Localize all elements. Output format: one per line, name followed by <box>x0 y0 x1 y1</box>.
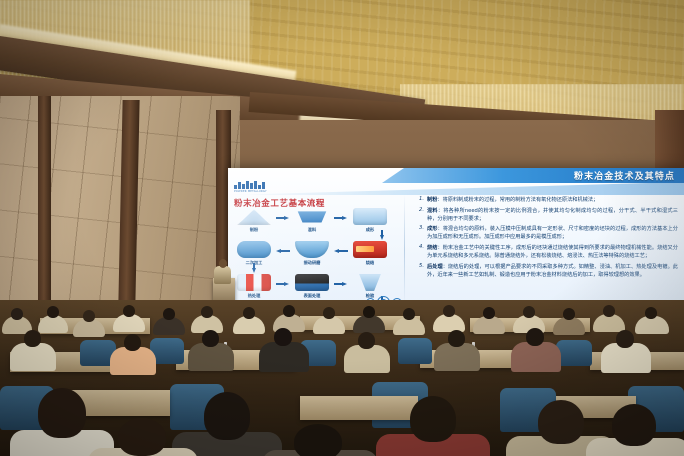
flow-label: 烧结 <box>366 260 374 266</box>
flow-label: 振动研磨 <box>304 260 321 266</box>
audience-chair <box>398 338 432 364</box>
flow-node-surface-treatment: 表面处理 <box>290 274 334 299</box>
surface-machine-icon <box>295 274 329 291</box>
table-near-2 <box>300 396 418 420</box>
list-item-number: 1. <box>414 196 427 204</box>
flow-node-vibratory-grinding: 振动研磨 <box>290 241 334 266</box>
list-item-body: 烧结：粉末冶金工艺中的关键性工序，成形后的坯块通过烧结使其得到所要求的最终物理机… <box>427 244 678 260</box>
tank-icon <box>237 241 271 258</box>
flow-node-mixing: 混料 <box>290 208 334 233</box>
list-item-term: 后处理 <box>427 264 443 270</box>
list-item-text: ：将原料制成粉末的过程，常用的制粉方法有氧化物还原法和机械法； <box>437 197 598 203</box>
furnace-icon <box>353 241 387 258</box>
list-item-body: 成形：将混合均匀的原料，装入压模中压制成具有一定形状、尺寸和密度的坯块的过程，成… <box>427 225 678 241</box>
audience-chair <box>556 340 592 366</box>
flow-node-powder: 制粉 <box>232 208 276 233</box>
flow-row-1: 制粉 混料 成形 <box>232 208 404 238</box>
flow-arrow-left <box>276 249 290 253</box>
list-item-text: ：粉末冶金工艺中的关键性工序，成形后的坯块通过烧结使其得到所要求的最终物理机械性… <box>427 245 678 259</box>
slide-bullet-list: 1. 制粉：将原料制成粉末的过程，常用的制粉方法有氧化物还原法和机械法； 2. … <box>414 196 678 282</box>
flow-arrow-left <box>334 249 348 253</box>
list-item-body: 混料：将各种所need的粉末按一定的比例混合，并使其均匀化制成均匀的过程，分干式… <box>427 207 678 223</box>
conference-hall-screenshot: 粉末冶金技术及其特点 POWDER METALLURGY 粉末冶金工艺基本流程 … <box>0 0 684 456</box>
logo-subtext: POWDER METALLURGY <box>234 190 278 193</box>
mixer-icon <box>295 208 329 225</box>
list-item-text: ：将混合均匀的原料，装入压模中压制成具有一定形状、尺寸和密度的坯块的过程，成形的… <box>427 226 678 240</box>
flow-arrow-right <box>276 282 290 286</box>
logo-bars-icon <box>234 181 278 189</box>
flow-label: 成形 <box>366 227 374 233</box>
caliper-icon <box>353 274 387 291</box>
flow-node-sintering: 烧结 <box>348 241 392 266</box>
powder-pile-icon <box>237 208 271 225</box>
flow-label: 热处理 <box>248 293 261 299</box>
flow-node-heat-treatment: 热处理 <box>232 274 276 299</box>
bowl-icon <box>295 241 329 258</box>
process-flowchart: 制粉 混料 成形 二次加工 <box>232 208 404 306</box>
flow-node-secondary-processing: 二次加工 <box>232 241 276 266</box>
flow-arrow-right <box>276 216 290 220</box>
list-item-term: 制粉 <box>427 197 437 203</box>
list-item-body: 制粉：将原料制成粉末的过程，常用的制粉方法有氧化物还原法和机械法； <box>427 196 598 204</box>
flow-row-2: 二次加工 振动研磨 烧结 <box>232 241 404 271</box>
presenter-logo: POWDER METALLURGY <box>234 181 278 194</box>
list-item: 1. 制粉：将原料制成粉末的过程，常用的制粉方法有氧化物还原法和机械法； <box>414 196 678 204</box>
list-item-text: ：烧结后的处理，可以根据产品要求的不同采取多种方式。如精整、浸油、机加工、热处理… <box>427 264 678 278</box>
list-item-body: 后处理：烧结后的处理，可以根据产品要求的不同采取多种方式。如精整、浸油、机加工、… <box>427 263 678 279</box>
flow-label: 表面处理 <box>304 293 321 299</box>
list-item-number: 2. <box>414 207 427 223</box>
flow-arrow-down-right <box>380 230 384 240</box>
press-icon <box>353 208 387 225</box>
heat-bath-icon <box>237 274 271 291</box>
projection-screen: 粉末冶金技术及其特点 POWDER METALLURGY 粉末冶金工艺基本流程 … <box>228 168 684 308</box>
list-item: 4. 烧结：粉末冶金工艺中的关键性工序，成形后的坯块通过烧结使其得到所要求的最终… <box>414 244 678 260</box>
list-item: 5. 后处理：烧结后的处理，可以根据产品要求的不同采取多种方式。如精整、浸油、机… <box>414 263 678 279</box>
flow-node-forming: 成形 <box>348 208 392 233</box>
list-item: 2. 混料：将各种所need的粉末按一定的比例混合，并使其均匀化制成均匀的过程，… <box>414 207 678 223</box>
flow-label: 制粉 <box>250 227 258 233</box>
speaker-body <box>214 266 231 284</box>
list-item-text: ：将各种所need的粉末按一定的比例混合，并使其均匀化制成均匀的过程，分干式、半… <box>427 208 678 222</box>
list-item-number: 3. <box>414 225 427 241</box>
list-item-term: 混料 <box>427 208 438 214</box>
flow-arrow-down-left <box>252 263 256 273</box>
flow-arrow-right <box>334 282 348 286</box>
slide-column-divider <box>404 194 405 306</box>
list-item-number: 4. <box>414 244 427 260</box>
list-item-term: 烧结 <box>427 245 437 251</box>
flow-arrow-right <box>334 216 348 220</box>
list-item: 3. 成形：将混合均匀的原料，装入压模中压制成具有一定形状、尺寸和密度的坯块的过… <box>414 225 678 241</box>
slide-title-banner: 粉末冶金技术及其特点 <box>382 168 684 183</box>
flow-label: 混料 <box>308 227 316 233</box>
list-item-number: 5. <box>414 263 427 279</box>
list-item-term: 成形 <box>427 226 437 232</box>
speaker-head <box>219 259 227 268</box>
slide-title-text: 粉末冶金技术及其特点 <box>574 169 684 182</box>
